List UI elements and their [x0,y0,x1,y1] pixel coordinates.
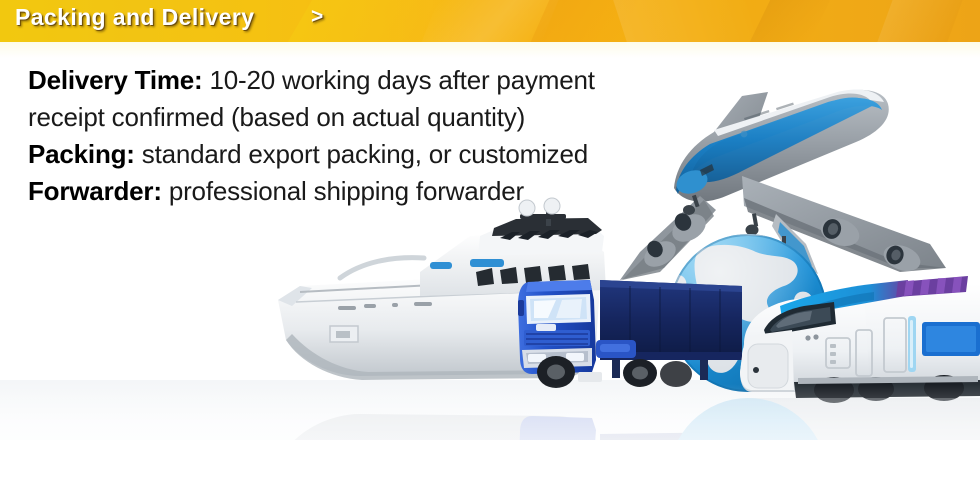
delivery-info-text: Delivery Time: 10-20 working days after … [28,62,688,210]
info-line-label: Forwarder: [28,176,162,206]
info-line: receipt confirmed (based on actual quant… [28,99,688,136]
info-line-text: receipt confirmed (based on actual quant… [28,102,525,132]
info-line-label: Delivery Time: [28,65,202,95]
info-line: Delivery Time: 10-20 working days after … [28,62,688,99]
info-line-text: professional shipping forwarder [162,176,524,206]
packing-and-delivery-banner: Packing and Delivery > Delivery Time: 10… [0,0,980,495]
info-line: Forwarder: professional shipping forward… [28,173,688,210]
info-line-text: 10-20 working days after payment [202,65,594,95]
info-line-label: Packing: [28,139,135,169]
info-line-text: standard export packing, or customized [135,139,588,169]
info-line: Packing: standard export packing, or cus… [28,136,688,173]
